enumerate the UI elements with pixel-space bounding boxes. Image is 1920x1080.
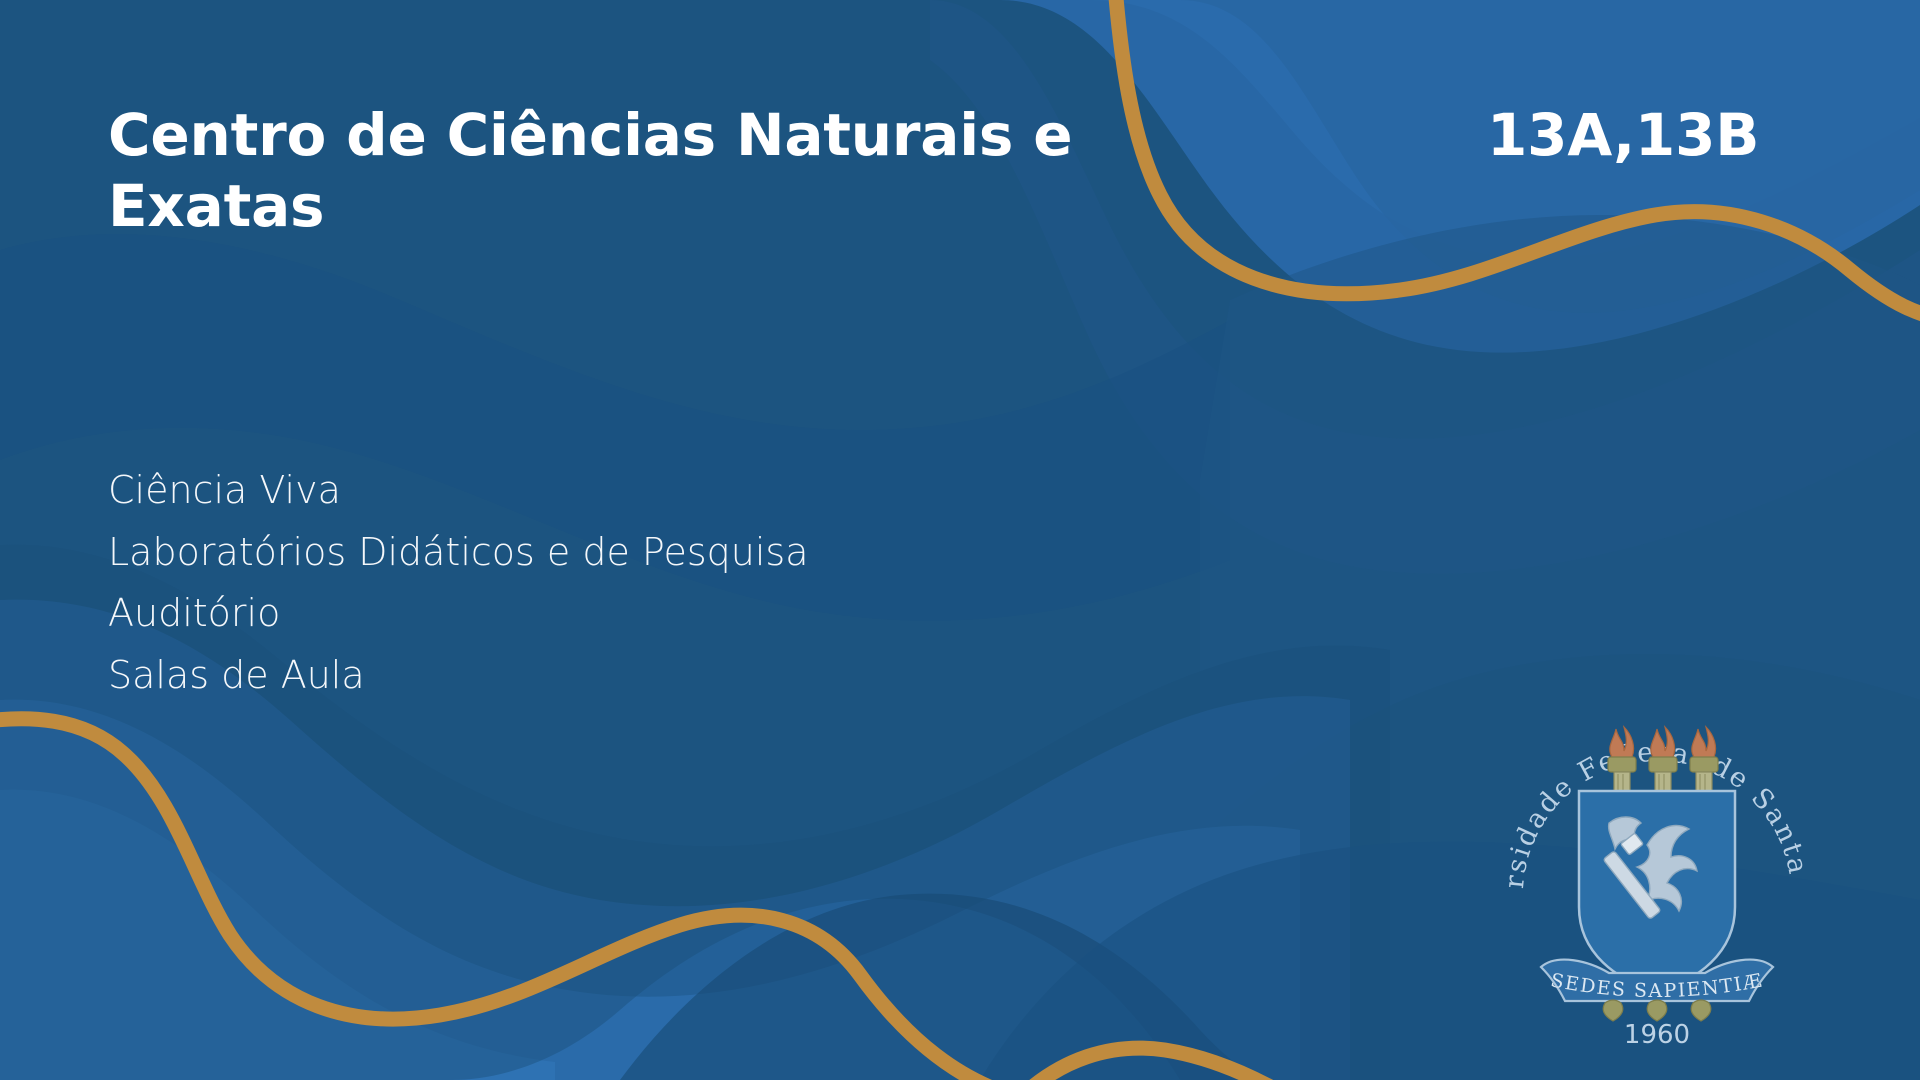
torch-collar [1690, 757, 1718, 772]
page-title: Centro de Ciências Naturais e Exatas [108, 100, 1288, 242]
logo-year: 1960 [1624, 1020, 1690, 1045]
torch-collar [1649, 757, 1677, 772]
room-code-label: 13A,13B [1487, 100, 1759, 171]
ufsm-logo: Universidade Federal de Santa Maria [1497, 695, 1817, 1045]
facility-list: Ciência Viva Laboratórios Didáticos e de… [108, 460, 809, 706]
logo-rosettes [1603, 1000, 1711, 1021]
presentation-slide: Centro de Ciências Naturais e Exatas 13A… [0, 0, 1920, 1080]
logo-year-value: 1960 [1624, 1020, 1690, 1045]
logo-torches [1608, 727, 1718, 794]
list-item: Laboratórios Didáticos e de Pesquisa [108, 522, 809, 584]
list-item: Salas de Aula [108, 645, 809, 707]
list-item: Auditório [108, 583, 809, 645]
title-block: Centro de Ciências Naturais e Exatas [108, 100, 1358, 242]
list-item: Ciência Viva [108, 460, 809, 522]
torch-collar [1608, 757, 1636, 772]
